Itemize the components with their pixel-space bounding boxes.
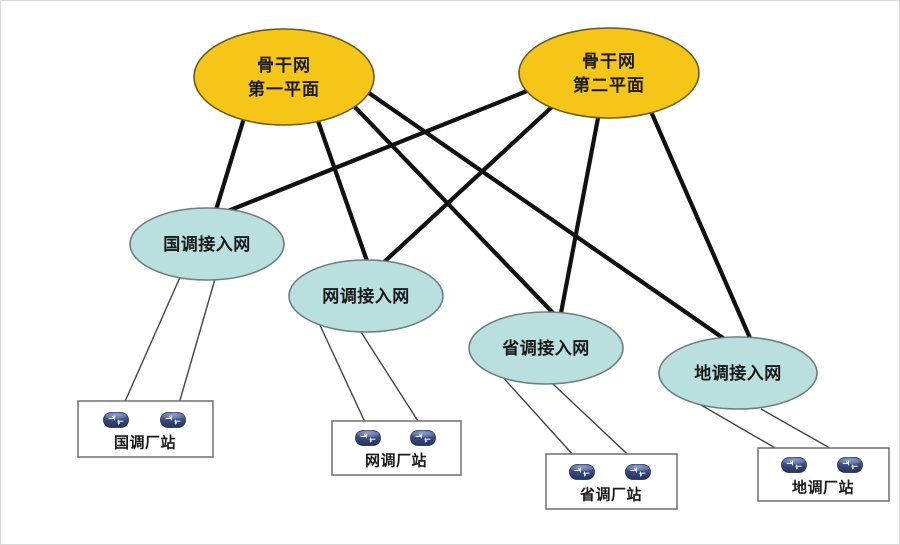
trunk-link-plane1-guodiao	[216, 118, 244, 210]
backbone-node-shape	[194, 29, 374, 125]
access-node-wangdiao[interactable]: 网调接入网	[289, 260, 443, 332]
trunk-link-plane1-wangdiao	[318, 121, 367, 261]
station-label-didiao-station: 地调厂站	[792, 479, 854, 497]
backbone-node-plane2[interactable]: 骨干网第二平面	[519, 28, 699, 118]
access-link-shengdiao-r1	[499, 373, 584, 467]
router-icon-wangdiao-station-1	[356, 431, 381, 446]
access-node-didiao[interactable]: 地调接入网	[659, 337, 817, 409]
station-box-wangdiao-station: 网调厂站	[332, 421, 461, 475]
network-topology-diagram: 国调厂站网调厂站省调厂站地调厂站 国调接入网网调接入网省调接入网地调接入网 骨干…	[1, 1, 900, 545]
access-link-wangdiao-r1	[319, 323, 370, 433]
backbone-node-label-line2: 第二平面	[573, 75, 645, 96]
access-node-group: 国调接入网网调接入网省调接入网地调接入网	[130, 208, 817, 409]
station-label-shengdiao-station: 省调厂站	[579, 486, 642, 504]
access-link-guodiao-r1	[119, 275, 181, 415]
router-icon-wangdiao-station-2	[411, 431, 436, 446]
trunk-link-plane2-shengdiao	[561, 118, 598, 313]
station-box-didiao-station: 地调厂站	[758, 448, 889, 501]
backbone-node-shape	[519, 28, 699, 118]
station-label-guodiao-station: 国调厂站	[114, 434, 176, 452]
router-icon-didiao-station-1	[782, 458, 807, 473]
station-box-guodiao-station: 国调厂站	[78, 401, 213, 457]
station-box-shengdiao-station: 省调厂站	[546, 454, 677, 509]
diagram-canvas: 国调厂站网调厂站省调厂站地调厂站 国调接入网网调接入网省调接入网地调接入网 骨干…	[0, 0, 900, 545]
router-icon-guodiao-station-2	[161, 413, 186, 428]
access-node-label: 地调接入网	[694, 363, 782, 384]
access-link-guodiao-r2	[176, 279, 215, 414]
access-node-label: 国调接入网	[163, 234, 251, 255]
station-label-wangdiao-station: 网调厂站	[365, 452, 427, 470]
backbone-node-label-line1: 骨干网	[257, 56, 311, 76]
access-link-wangdiao-r2	[361, 332, 425, 432]
trunk-link-plane2-wangdiao	[383, 105, 554, 263]
backbone-node-label-line1: 骨干网	[582, 52, 636, 72]
router-icon-shengdiao-station-2	[626, 465, 651, 480]
backbone-node-group: 骨干网第一平面骨干网第二平面	[194, 28, 699, 125]
access-node-shengdiao[interactable]: 省调接入网	[469, 312, 623, 384]
router-icon-guodiao-station-1	[104, 413, 129, 428]
backbone-node-plane1[interactable]: 骨干网第一平面	[194, 29, 374, 125]
access-node-guodiao[interactable]: 国调接入网	[130, 208, 284, 280]
access-node-label: 网调接入网	[322, 286, 410, 307]
trunk-link-plane2-didiao	[649, 107, 750, 338]
backbone-node-label-line2: 第一平面	[248, 79, 320, 100]
router-icon-didiao-station-2	[838, 458, 863, 473]
access-node-label: 省调接入网	[501, 338, 590, 359]
router-icon-shengdiao-station-1	[570, 465, 595, 480]
station-box-group: 国调厂站网调厂站省调厂站地调厂站	[78, 401, 889, 509]
